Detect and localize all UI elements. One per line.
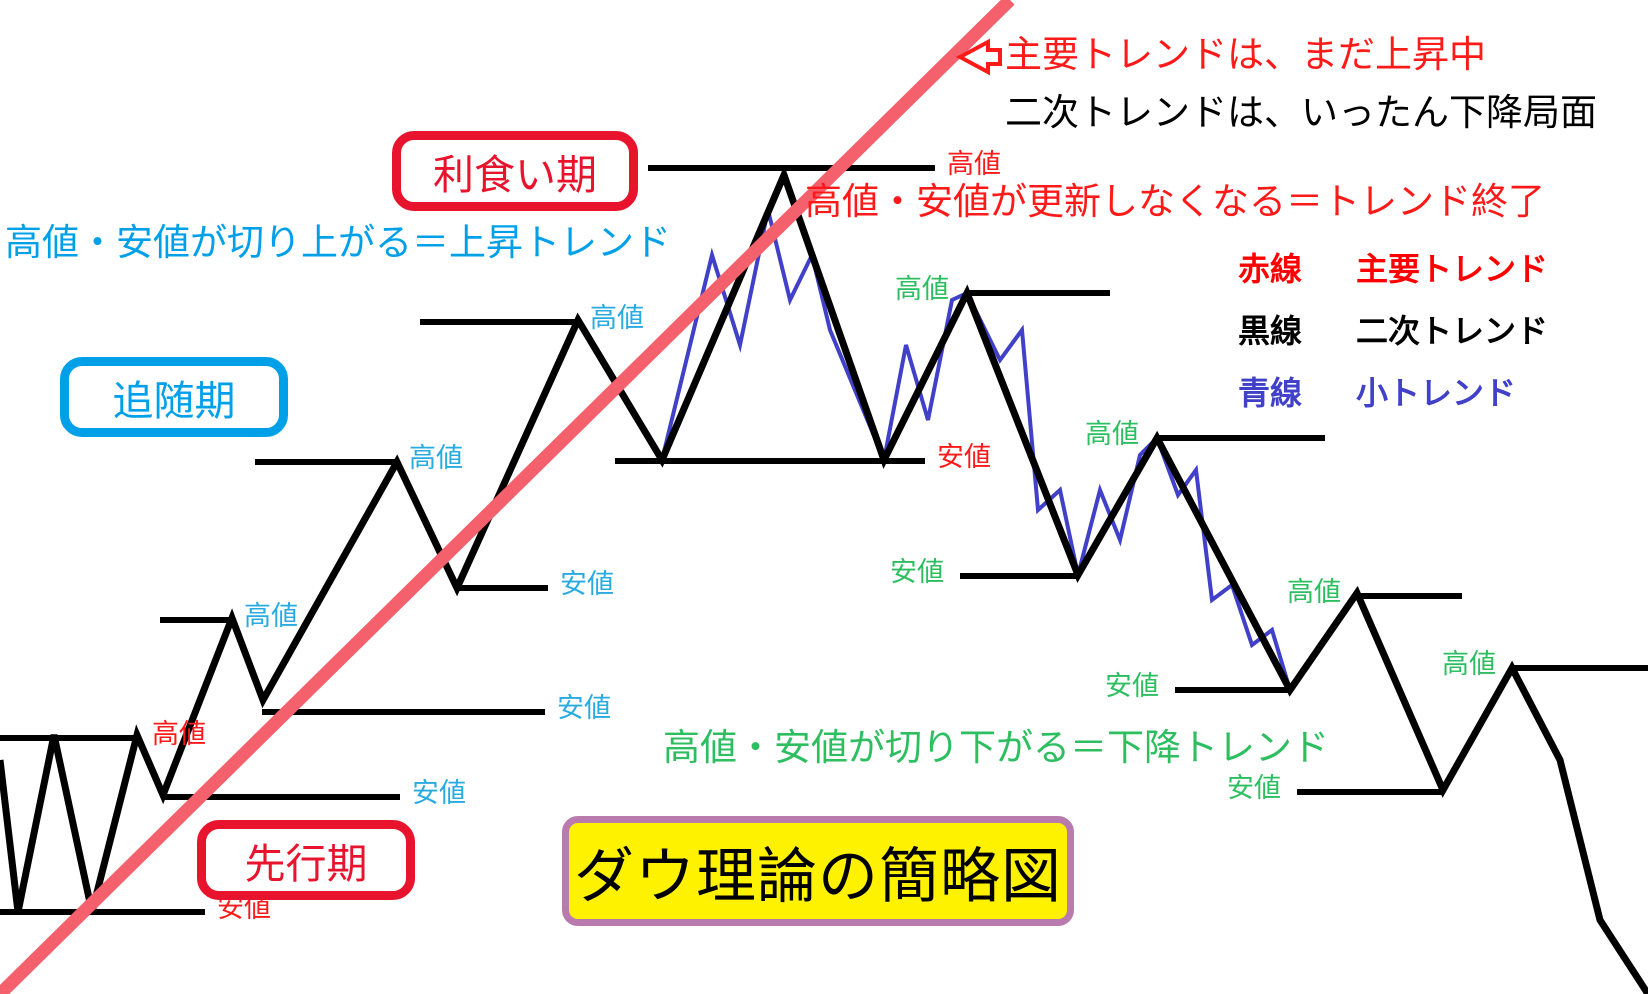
annotation-primary-uptrend: 主要トレンドは、まだ上昇中: [1005, 36, 1486, 73]
page-title: ダウ理論の簡略図: [574, 828, 1062, 915]
legend-item: 赤線主要トレンド: [1238, 244, 1548, 290]
price-label-high: 高値: [1442, 651, 1496, 678]
annotation-secondary-downturn: 二次トレンドは、いったん下降局面: [1005, 94, 1597, 131]
diagram-title-plate: ダウ理論の簡略図: [562, 816, 1074, 926]
legend-item: 青線小トレンド: [1238, 368, 1548, 414]
price-label-high: 高値: [152, 721, 206, 748]
price-label-high: 高値: [1085, 421, 1139, 448]
legend-value: 主要トレンド: [1356, 244, 1548, 290]
price-label-low: 安値: [412, 780, 466, 807]
phase-label-following: 追随期: [113, 367, 236, 427]
price-label-low: 安値: [937, 444, 991, 471]
phase-label-leading: 先行期: [245, 830, 368, 890]
price-label-high: 高値: [244, 603, 298, 630]
price-label-low: 安値: [560, 571, 614, 598]
price-label-high: 高値: [590, 305, 644, 332]
legend-item: 黒線二次トレンド: [1238, 306, 1548, 352]
legend-key: 赤線: [1238, 244, 1356, 290]
annotation-trend-end-rule: 高値・安値が更新しなくなる＝トレンド終了: [805, 183, 1545, 220]
legend-value: 小トレンド: [1356, 368, 1516, 414]
minor-trend-segment: [662, 210, 884, 460]
price-label-high: 高値: [409, 445, 463, 472]
price-label-low: 安値: [557, 695, 611, 722]
phase-pill-profit-taking[interactable]: 利食い期: [392, 131, 638, 211]
price-label-high: 高値: [1287, 579, 1341, 606]
legend-key: 青線: [1238, 368, 1356, 414]
phase-pill-following[interactable]: 追随期: [60, 357, 288, 437]
annotation-uptrend-rule: 高値・安値が切り上がる＝上昇トレンド: [5, 224, 671, 261]
legend: 赤線主要トレンド黒線二次トレンド青線小トレンド: [1238, 244, 1548, 430]
price-label-high: 高値: [895, 276, 949, 303]
price-label-high: 高値: [947, 151, 1001, 178]
legend-key: 黒線: [1238, 306, 1356, 352]
annotation-downtrend-rule: 高値・安値が切り下がる＝下降トレンド: [663, 729, 1329, 766]
price-label-low: 安値: [1105, 673, 1159, 700]
price-label-low: 安値: [1227, 775, 1281, 802]
phase-label-profit-taking: 利食い期: [433, 141, 597, 201]
price-label-low: 安値: [890, 559, 944, 586]
dow-theory-diagram: 高値安値高値安値高値安値高値安値高値安値高値安値高値安値高値安値高値 主要トレン…: [0, 0, 1648, 994]
legend-value: 二次トレンド: [1356, 306, 1548, 352]
phase-pill-leading[interactable]: 先行期: [197, 820, 415, 900]
